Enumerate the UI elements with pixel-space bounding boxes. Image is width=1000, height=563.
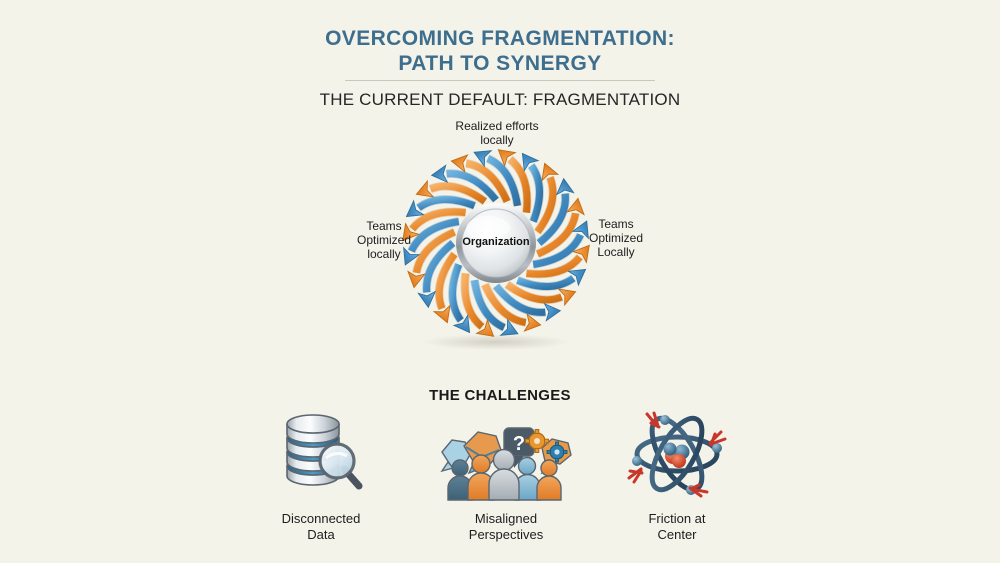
poster-canvas: OVERCOMING FRAGMENTATION: PATH TO SYNERG… <box>0 0 1000 563</box>
page-title: OVERCOMING FRAGMENTATION: PATH TO SYNERG… <box>0 26 1000 76</box>
challenge-label: Misaligned Perspectives <box>406 511 606 543</box>
challenge-label: Friction at Center <box>577 511 777 543</box>
page-title-line1: OVERCOMING FRAGMENTATION: <box>325 27 675 50</box>
radial-arrow-head <box>406 271 425 288</box>
diagram-shadow <box>422 334 570 350</box>
atom-friction-icon <box>577 405 777 503</box>
challenge-item-misaligned-perspectives: ? <box>406 405 606 543</box>
svg-text:?: ? <box>513 433 525 455</box>
radial-arrow-head <box>555 178 573 195</box>
section-subtitle: THE CURRENT DEFAULT: FRAGMENTATION <box>0 90 1000 110</box>
diagram-label-left: Teams Optimized locally <box>338 219 430 261</box>
page-title-line2: PATH TO SYNERGY <box>0 51 1000 76</box>
diagram-label-top: Realized efforts locally <box>432 119 562 147</box>
radial-arrow-head <box>431 165 448 183</box>
diagram-label-right: Teams Optimized Locally <box>570 217 662 259</box>
organization-center-label: Organization <box>446 236 546 248</box>
radial-arrow-head <box>450 153 467 172</box>
radial-arrow-head <box>545 302 562 320</box>
challenges-heading: THE CHALLENGES <box>0 387 1000 404</box>
people-speech-bubbles-icon: ? <box>406 405 606 503</box>
challenge-item-friction-at-center: Friction at Center <box>577 405 777 543</box>
radial-arrow-head <box>567 197 586 214</box>
database-magnifier-icon <box>221 405 421 503</box>
radial-arrow-head <box>524 314 541 333</box>
header-divider <box>345 80 655 81</box>
challenge-item-disconnected-data: Disconnected Data <box>221 405 421 543</box>
challenge-label: Disconnected Data <box>221 511 421 543</box>
radial-arrow-head <box>418 292 436 309</box>
